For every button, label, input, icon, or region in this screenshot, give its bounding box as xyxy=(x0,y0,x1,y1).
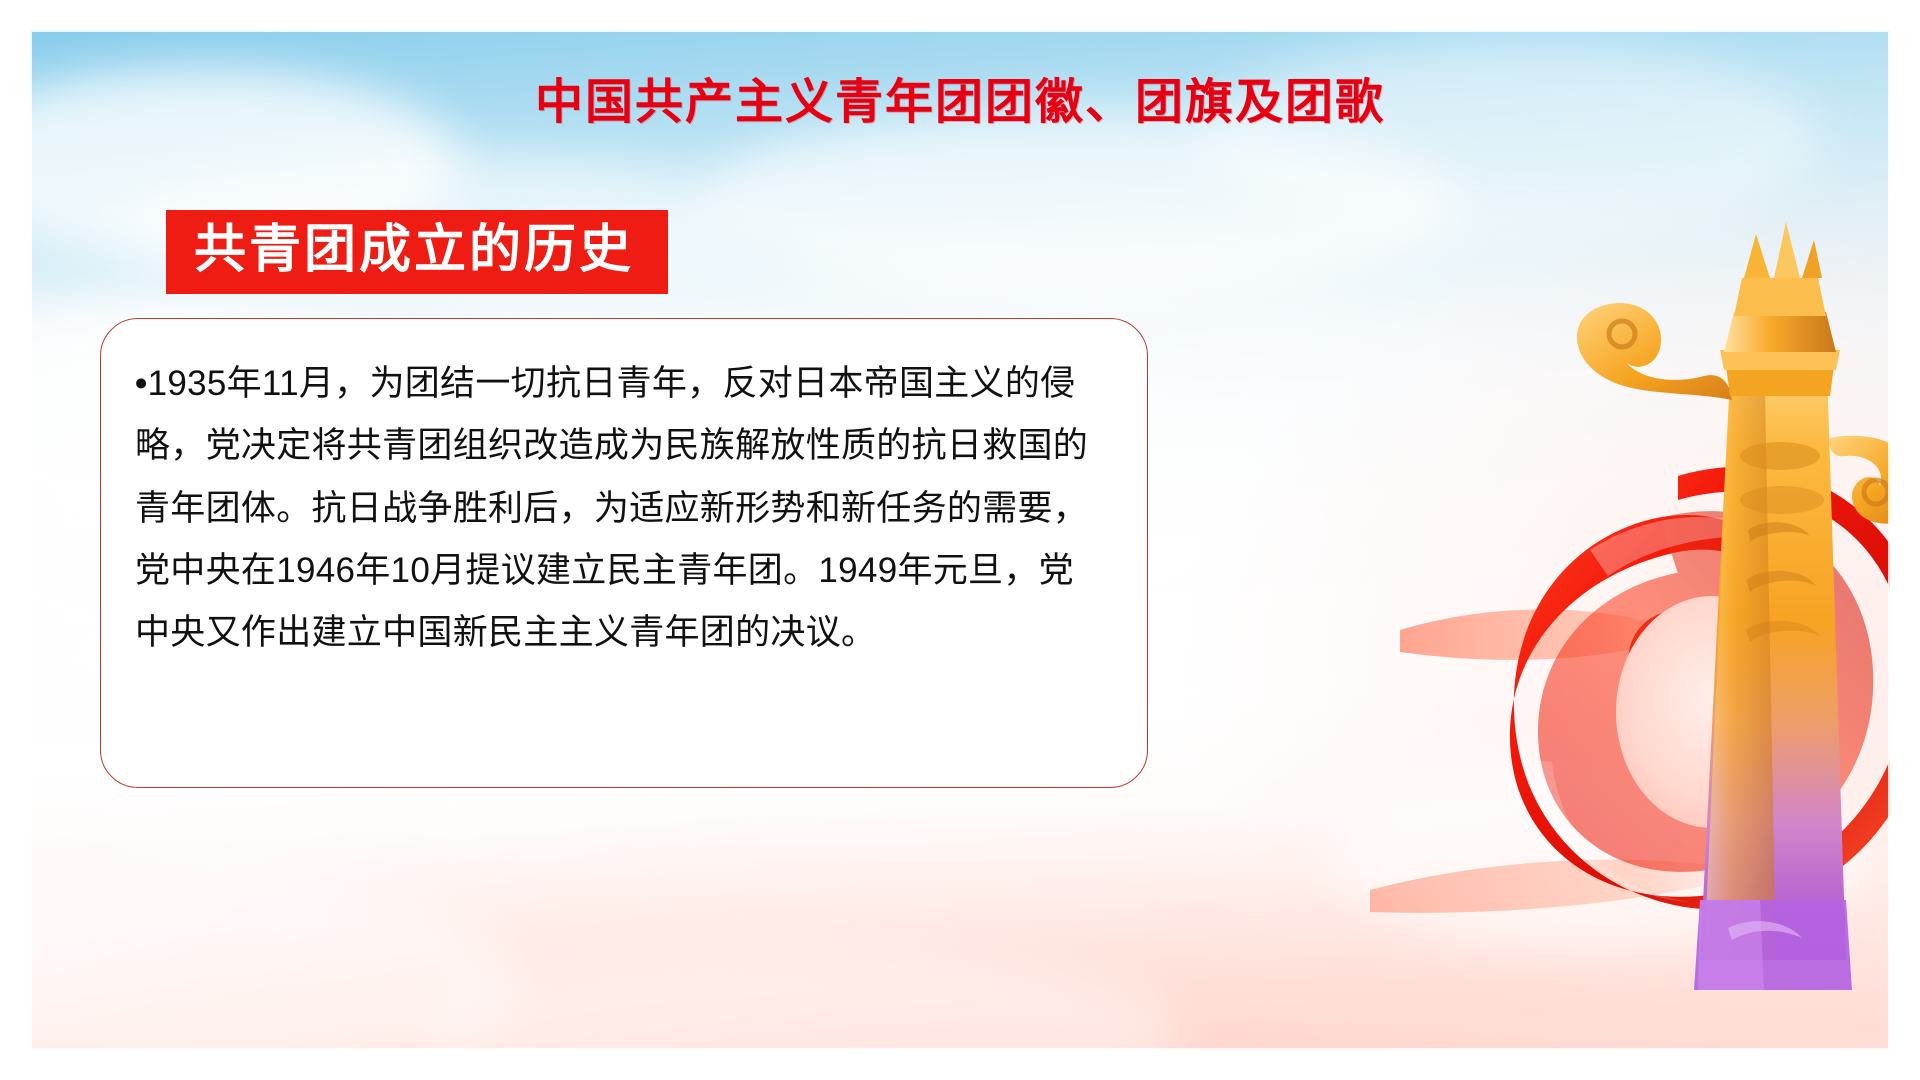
cloud-decoration xyxy=(1330,760,1870,950)
section-badge: 共青团成立的历史 xyxy=(166,210,668,294)
body-paragraph: •1935年11月，为团结一切抗日青年，反对日本帝国主义的侵略，党决定将共青团组… xyxy=(135,353,1103,664)
page-title: 中国共产主义青年团团徽、团旗及团歌 xyxy=(0,62,1920,132)
content-card: •1935年11月，为团结一切抗日青年，反对日本帝国主义的侵略，党决定将共青团组… xyxy=(100,318,1148,788)
body-paragraph-text: 1935年11月，为团结一切抗日青年，反对日本帝国主义的侵略，党决定将共青团组织… xyxy=(135,364,1088,652)
slide-canvas: 中国共产主义青年团团徽、团旗及团歌 共青团成立的历史 •1935年11月，为团结… xyxy=(0,0,1920,1080)
cloud-decoration xyxy=(0,880,520,1080)
bullet-marker: • xyxy=(135,364,148,403)
cloud-decoration xyxy=(420,950,1180,1080)
cloud-decoration xyxy=(700,110,1460,300)
right-decoration-group xyxy=(1360,200,1920,1080)
section-badge-label: 共青团成立的历史 xyxy=(194,224,634,276)
